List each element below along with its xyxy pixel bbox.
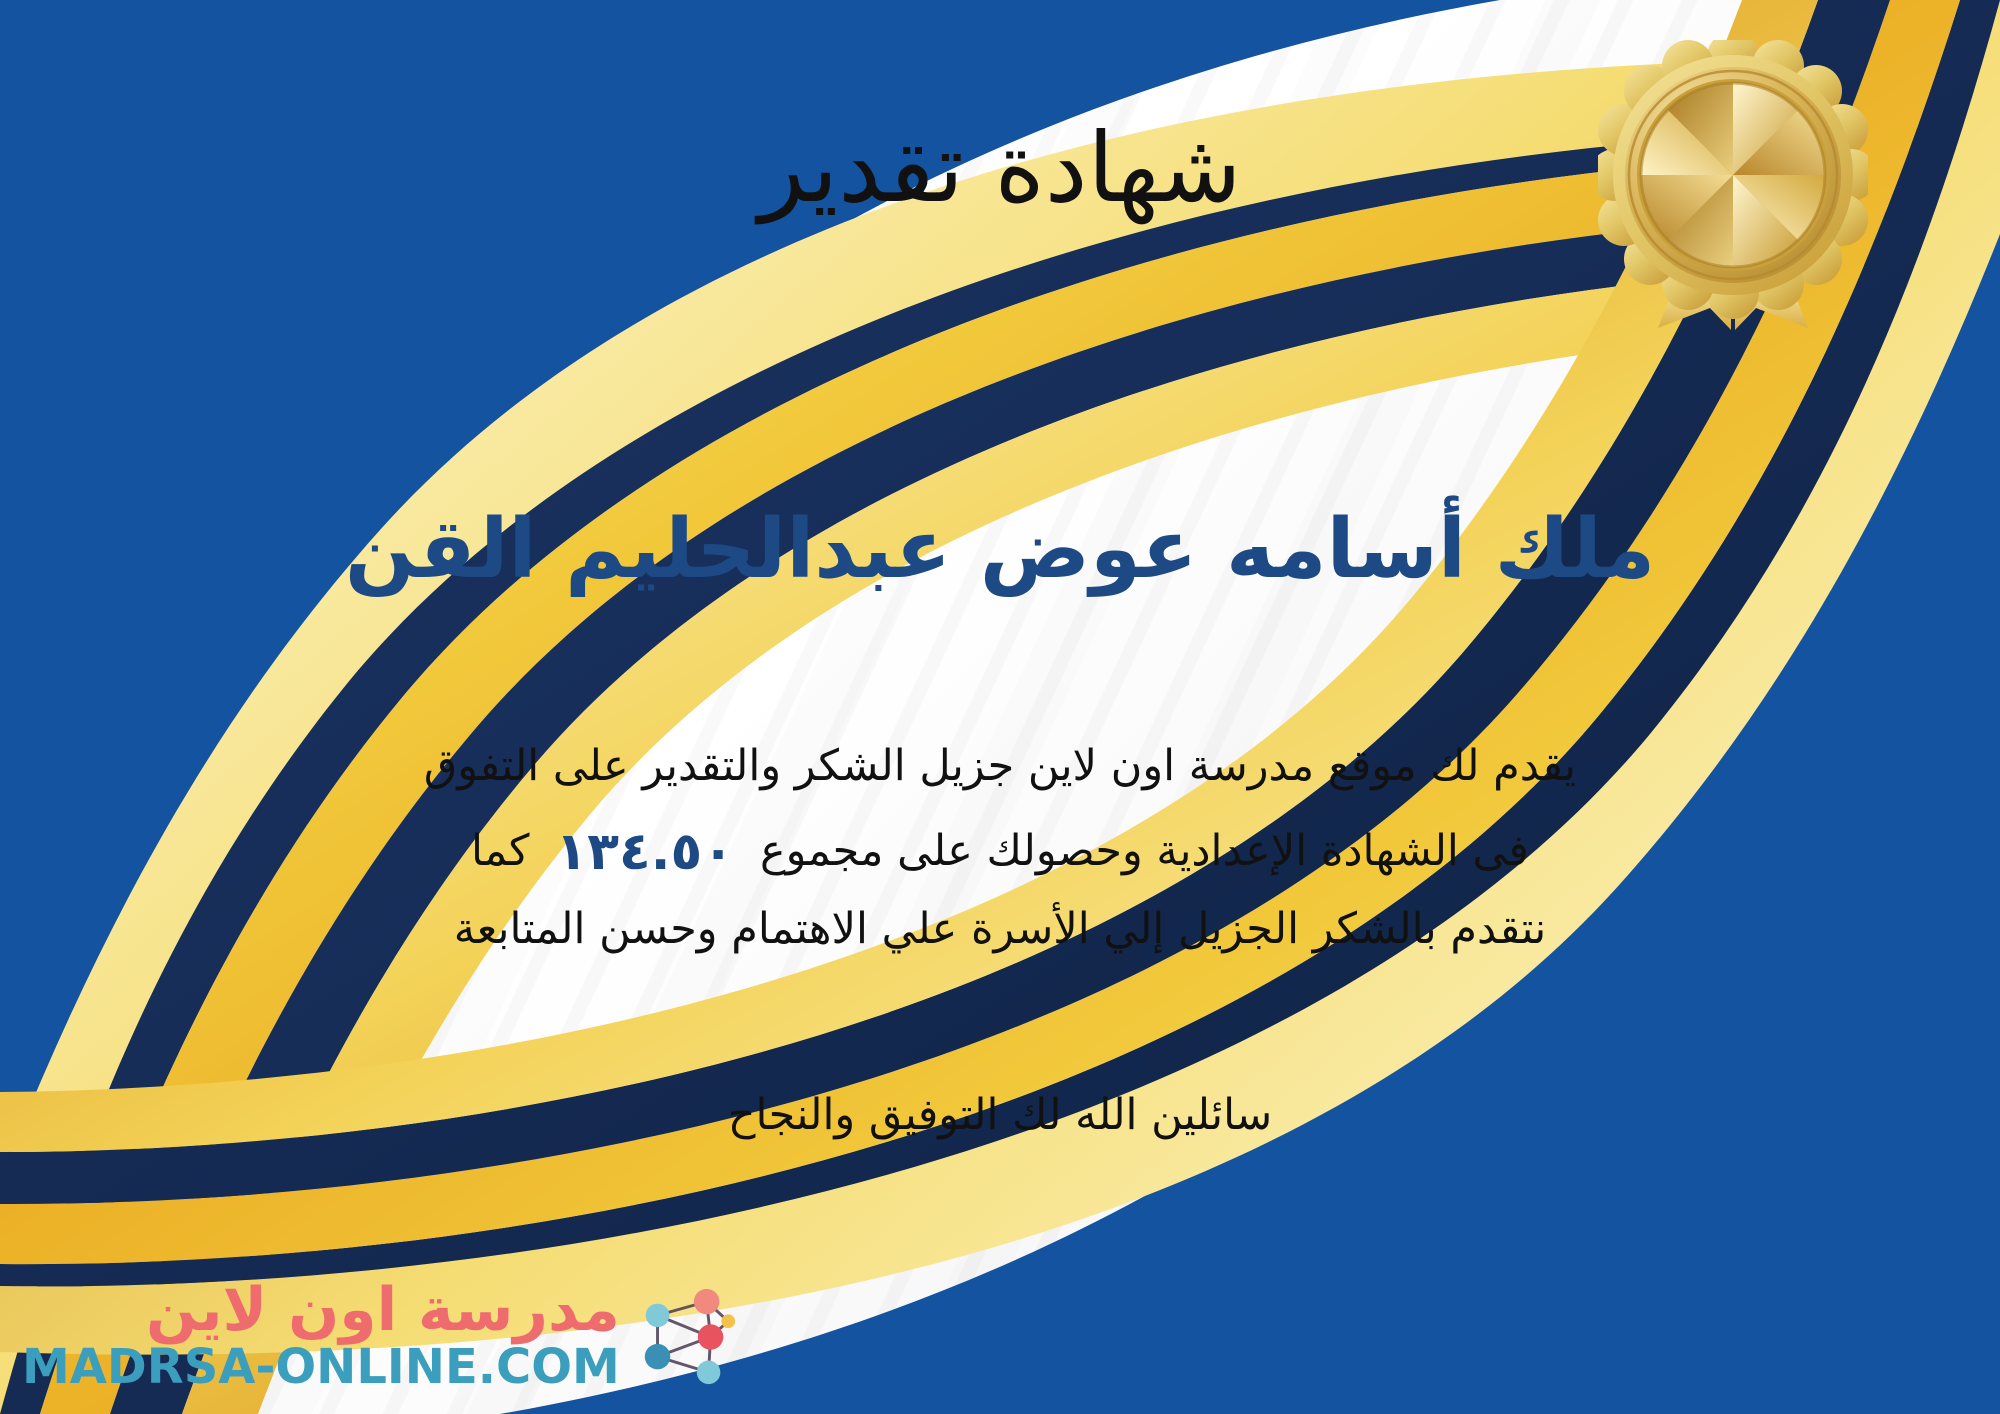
brand-logo[interactable]: مدرسة اون لاين MADRSA-ONLINE.COM <box>22 1280 740 1392</box>
body-line-2-prefix: فى الشهادة الإعدادية وحصولك على مجموع <box>760 826 1529 876</box>
network-nodes-icon <box>632 1282 740 1390</box>
brand-name-arabic: مدرسة اون لاين <box>146 1280 620 1341</box>
body-line-1: يقدم لك موقع مدرسة اون لاين جزيل الشكر و… <box>60 730 1940 804</box>
body-line-2: فى الشهادة الإعدادية وحصولك على مجموع١٣٤… <box>60 804 1940 893</box>
certificate-canvas: شهادة تقدير ملك أسامه عوض عبدالحليم القن… <box>0 0 2000 1414</box>
brand-logo-text: مدرسة اون لاين MADRSA-ONLINE.COM <box>22 1280 620 1392</box>
certificate-title: شهادة تقدير <box>0 118 2000 219</box>
certificate-content: شهادة تقدير ملك أسامه عوض عبدالحليم القن… <box>0 0 2000 1414</box>
recipient-name: ملك أسامه عوض عبدالحليم القن <box>0 505 2000 595</box>
grade-value: ١٣٤.٥٠ <box>529 808 759 897</box>
certificate-body: يقدم لك موقع مدرسة اون لاين جزيل الشكر و… <box>60 730 1940 967</box>
closing-wish: سائلين الله لك التوفيق والنجاح <box>0 1085 2000 1145</box>
body-line-3: نتقدم بالشكر الجزيل إلي الأسرة علي الاهت… <box>60 893 1940 967</box>
brand-website: MADRSA-ONLINE.COM <box>22 1342 620 1392</box>
body-line-2-suffix: كما <box>471 826 529 876</box>
